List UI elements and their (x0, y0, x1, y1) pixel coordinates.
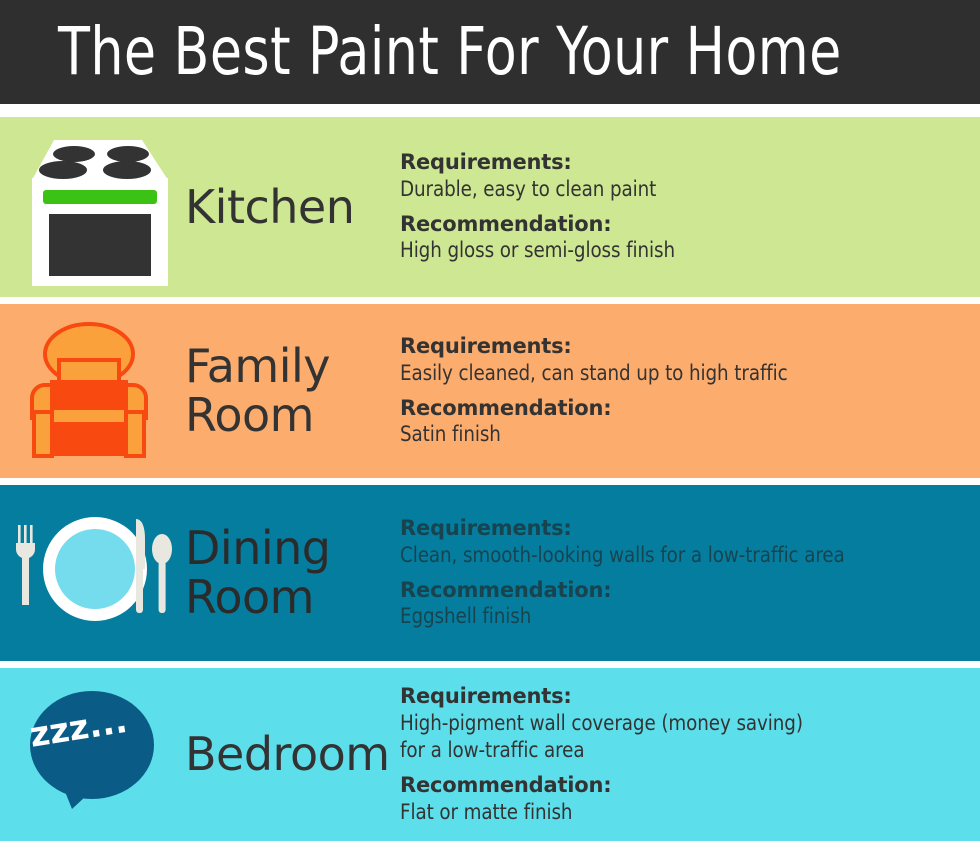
dining-room-label-line2: Room (185, 573, 395, 622)
dining-room-recommendation-text: Eggshell finish (400, 603, 943, 630)
bedroom-label-text: Bedroom (185, 727, 390, 781)
plate-center (55, 529, 135, 609)
family-room-icon-area (0, 304, 185, 478)
bedroom-details: Requirements: High-pigment wall coverage… (395, 683, 980, 826)
family-room-requirements-text: Easily cleaned, can stand up to high tra… (400, 360, 943, 387)
header-bar: The Best Paint For Your Home (0, 0, 980, 104)
kitchen-details: Requirements: Durable, easy to clean pai… (395, 149, 980, 264)
dining-room-icon-area (0, 485, 185, 661)
dining-room-label-line1: Dining (185, 524, 395, 573)
kitchen-recommendation-text: High gloss or semi-gloss finish (400, 237, 943, 264)
kitchen-icon-area (0, 117, 185, 297)
bedroom-recommendation-text: Flat or matte finish (400, 799, 943, 826)
family-room-recommendation-text: Satin finish (400, 421, 943, 448)
family-room-details: Requirements: Easily cleaned, can stand … (395, 333, 980, 448)
family-room-requirements-heading: Requirements: (400, 333, 960, 360)
stove-icon (28, 138, 174, 286)
place-setting-icon (14, 507, 174, 635)
spoon-icon (152, 534, 172, 613)
infographic-root: The Best Paint For Your Home Kitchen (0, 0, 980, 841)
dining-room-label: Dining Room (185, 524, 395, 622)
bedroom-icon-area: zzz... (0, 668, 185, 841)
dining-room-requirements-text: Clean, smooth-looking walls for a low-tr… (400, 542, 943, 569)
section-kitchen: Kitchen Requirements: Durable, easy to c… (0, 117, 980, 297)
fork-icon (16, 525, 35, 605)
family-room-recommendation-heading: Recommendation: (400, 395, 960, 422)
dining-room-recommendation-heading: Recommendation: (400, 577, 960, 604)
bedroom-requirements-text-line1: High-pigment wall coverage (money saving… (400, 710, 943, 737)
kitchen-label-text: Kitchen (185, 180, 354, 234)
bedroom-recommendation-heading: Recommendation: (400, 772, 960, 799)
bedroom-requirements-text-line2: for a low-traffic area (400, 737, 943, 764)
kitchen-label: Kitchen (185, 183, 395, 232)
family-room-label-line2: Room (185, 391, 395, 440)
knife-icon (136, 519, 145, 613)
page-title: The Best Paint For Your Home (58, 19, 842, 85)
family-room-label-line1: Family (185, 342, 395, 391)
armchair-icon (26, 320, 152, 460)
bedroom-label: Bedroom (185, 730, 395, 779)
kitchen-requirements-text: Durable, easy to clean paint (400, 176, 943, 203)
dining-room-requirements-heading: Requirements: (400, 515, 960, 542)
section-bedroom: zzz... Bedroom Requirements: High-pigmen… (0, 668, 980, 841)
kitchen-requirements-heading: Requirements: (400, 149, 960, 176)
kitchen-recommendation-heading: Recommendation: (400, 211, 960, 238)
dining-room-details: Requirements: Clean, smooth-looking wall… (395, 515, 980, 630)
family-room-label: Family Room (185, 342, 395, 440)
section-family-room: Family Room Requirements: Easily cleaned… (0, 304, 980, 478)
bedroom-requirements-heading: Requirements: (400, 683, 960, 710)
section-dining-room: Dining Room Requirements: Clean, smooth-… (0, 485, 980, 661)
